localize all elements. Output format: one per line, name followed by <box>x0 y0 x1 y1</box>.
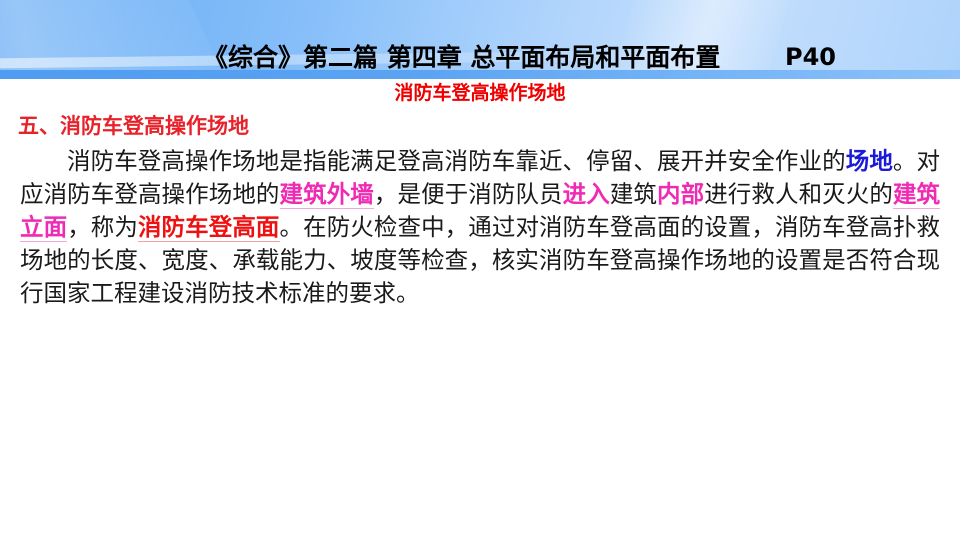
emphasis-blue-run: 场地 <box>846 149 893 175</box>
body-text-run: ，称为 <box>67 215 138 241</box>
emphasis-magenta-underline-run: 建筑外墙 <box>280 182 374 209</box>
slide-root: 《综合》第二篇 第四章 总平面布局和平面布置 P40 消防车登高操作场地 五、消… <box>0 0 960 540</box>
page-number-label: P40 <box>785 45 836 69</box>
header-banner: 《综合》第二篇 第四章 总平面布局和平面布置 P40 <box>0 0 960 79</box>
emphasis-magenta-run: 进入 <box>563 182 610 208</box>
slide-subtitle: 消防车登高操作场地 <box>0 82 960 105</box>
emphasis-red-underline-run: 消防车登高面 <box>138 215 280 242</box>
body-text-run: ，是便于消防队员 <box>374 182 563 208</box>
body-text-run: 进行救人和灭火的 <box>704 182 893 208</box>
banner-title-row: 《综合》第二篇 第四章 总平面布局和平面布置 P40 <box>0 40 960 74</box>
body-text-block: 消防车登高操作场地是指能满足登高消防车靠近、停留、展开并安全作业的场地。对应消防… <box>20 146 940 311</box>
emphasis-magenta-run: 内部 <box>657 182 704 208</box>
body-paragraph: 消防车登高操作场地是指能满足登高消防车靠近、停留、展开并安全作业的场地。对应消防… <box>20 146 940 311</box>
section-heading: 五、消防车登高操作场地 <box>18 113 249 139</box>
body-text-run: 消防车登高操作场地是指能满足登高消防车靠近、停留、展开并安全作业的 <box>67 149 846 175</box>
body-text-run: 建筑 <box>610 182 657 208</box>
slide-title: 《综合》第二篇 第四章 总平面布局和平面布置 <box>203 45 720 70</box>
